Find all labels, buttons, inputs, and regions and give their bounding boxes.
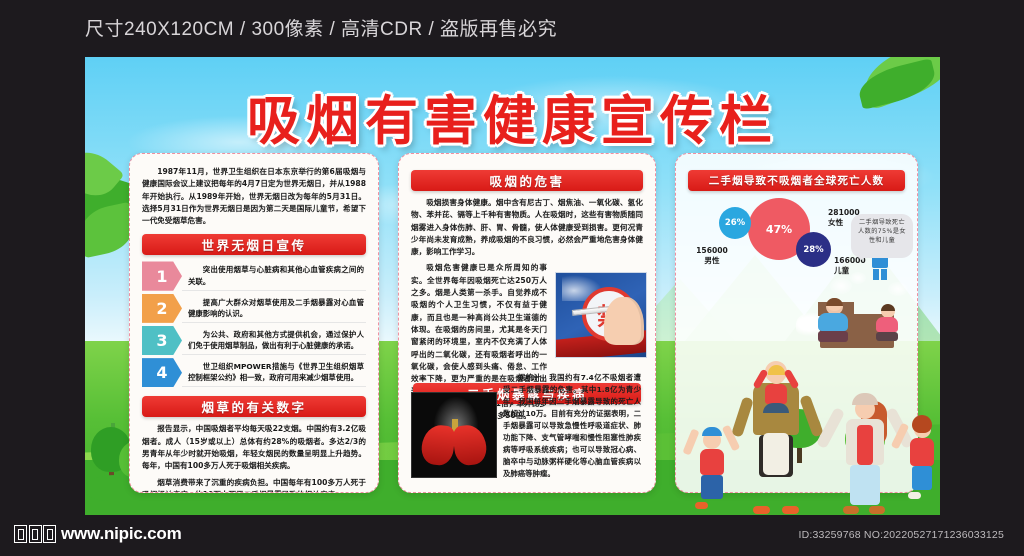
father-shoe [753,506,770,514]
mother-pants [850,465,880,505]
bubble-child: 28% [796,232,831,267]
section-header-2-label: 烟草的有关数字 [201,397,306,416]
child-right-figure [902,411,940,497]
child-left-pants [701,475,723,499]
no-smoking-sign-image: 禁 [555,272,647,358]
child-left-figure [691,415,733,507]
smoke-puff [850,272,866,284]
father-shirt [763,433,789,475]
lung-lobe-right [452,423,488,466]
father-cap [763,403,789,413]
man-torso [818,313,848,331]
section-header-smoking-harm-label: 吸烟的危害 [489,171,564,190]
poster-canvas: 吸烟有害健康宣传栏 1987年11月，世界卫生组织在日本东京举行的第6届吸烟与健… [85,57,940,515]
panel-harms-of-smoking: 吸烟的危害 吸烟损害身体健康。烟中含有尼古丁、烟焦油、一氧化碳、氢化物、苯并芘、… [398,153,656,493]
list-number-badge: 3 [142,326,182,355]
father-figure [745,361,807,511]
list-item: 1 突出使用烟草与心脏病和其他心血管疾病之间的关联。 [142,261,366,290]
mother-shoe [843,506,859,514]
mother-shoe [869,506,885,514]
child-right-pants [912,466,932,490]
father-left-arm [731,396,754,437]
child-right-shoe [908,492,921,499]
harm-paragraph-1: 吸烟损害身体健康。烟中含有尼古丁、烟焦油、一氧化碳、氢化物、苯并芘、镉等上千种有… [411,197,643,258]
chart-header-label: 二手烟导致不吸烟者全球死亡人数 [709,173,885,188]
child-left-torso [700,449,724,475]
toddler-figure [759,361,793,405]
poster-page: 尺寸240X120CM / 300像素 / 高清CDR / 盗版再售必究 吸烟有… [0,0,1024,556]
child-left-shoe [695,502,708,509]
list-item: 3 为公共、政府和其他方式提供机会，通过保护人们免于使用烟草制品，做出有利于心脏… [142,326,366,355]
list-item-text: 为公共、政府和其他方式提供机会，通过保护人们免于使用烟草制品，做出有利于心脏健康… [182,326,366,355]
nipic-logo-icon [14,525,56,543]
section-header-2: 烟草的有关数字 [142,396,366,417]
stats-paragraph-1: 报告显示，中国吸烟者平均每天吸22支烟。中国约有3.2亿吸烟者。成人（15岁或以… [142,423,366,472]
mother-top [857,425,873,465]
label-male-count: 156000 [684,246,740,256]
section-header-smoking-harm: 吸烟的危害 [411,170,643,191]
mother-figure [837,385,893,511]
speech-bubble: 二手烟导致死亡人数的75%是女性和儿童 [851,214,913,258]
toddler-torso [765,384,787,404]
list-item: 4 世卫组织MPOWER措施与《世界卫生组织烟草控制框架公约》相一致，政府可用来… [142,358,366,387]
list-item: 2 提高广大群众对烟草使用及二手烟暴露对心血管健康影响的认识。 [142,294,366,323]
person-legs [872,269,888,280]
chart-header: 二手烟导致不吸烟者全球死亡人数 [688,170,905,191]
toddler-hair [768,365,785,375]
bubble-male: 26% [719,207,751,239]
smoking-lungs-image [411,392,497,478]
lung-lobe-left [420,423,456,466]
image-id-text: ID:33259768 NO:20220527171236033125 [798,529,1004,541]
child-right-hair [912,415,932,433]
bubble-chart: 47% 26% 28% 156000 男性 281000 女性 166000 儿… [676,190,917,286]
list-item-text: 突出使用烟草与心脏病和其他心血管疾病之间的关联。 [182,261,366,290]
smoke-puff [830,278,852,294]
stats-paragraph-2: 烟草消费带来了沉重的疾病负担。中国每年有100多万人死于吸烟相关疾病，约10万人… [142,477,366,493]
label-male: 156000 男性 [684,246,740,267]
father-shoe [782,506,799,514]
panel-world-no-tobacco-day: 1987年11月，世界卫生组织在日本东京举行的第6届吸烟与健康国际会议上建议把每… [129,153,379,493]
child-hair [881,304,895,311]
site-logo[interactable]: www.nipic.com [14,524,182,544]
happy-family-illustration [685,330,940,515]
secondhand-paragraph: 据统计，我国约有7.4亿不吸烟者遭受二手烟暴露的危害。其中1.8亿为青少年。我国… [503,372,641,480]
hand-graphic [604,297,644,345]
spec-text: 尺寸240X120CM / 300像素 / 高清CDR / 盗版再售必究 [85,14,557,41]
footer-bar: www.nipic.com ID:33259768 NO:20220527171… [0,515,1024,556]
top-spec-bar: 尺寸240X120CM / 300像素 / 高清CDR / 盗版再售必究 [0,0,1024,57]
page-title: 吸烟有害健康宣传栏 [85,79,940,155]
man-hair [826,298,843,306]
secondhand-text-wrap: 据统计，我国约有7.4亿不吸烟者遭受二手烟暴露的危害。其中1.8亿为青少年。我国… [503,372,641,480]
child-left-arm [682,428,699,455]
list-number-badge: 1 [142,261,182,290]
section-header-1-label: 世界无烟日宣传 [201,235,306,254]
site-url[interactable]: www.nipic.com [61,524,182,544]
section-header-1: 世界无烟日宣传 [142,234,366,255]
mother-hat [852,393,878,405]
child-left-cap [702,427,722,436]
intro-paragraph: 1987年11月，世界卫生组织在日本东京举行的第6届吸烟与健康国际会议上建议把每… [142,166,366,227]
list-item-text: 世卫组织MPOWER措施与《世界卫生组织烟草控制框架公约》相一致，政府可用来减少… [182,358,366,387]
list-number-badge: 4 [142,358,182,387]
child-right-torso [910,438,934,466]
smoke-puff [888,282,908,296]
label-male-category: 男性 [684,256,740,266]
list-item-text: 提高广大群众对烟草使用及二手烟暴露对心血管健康影响的认识。 [182,294,366,323]
list-number-badge: 2 [142,294,182,323]
